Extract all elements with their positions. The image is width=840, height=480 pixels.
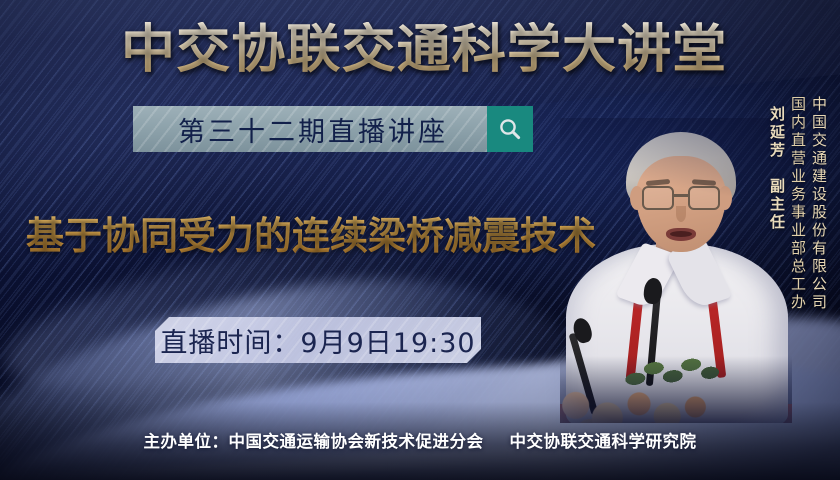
speaker-department: 国内直营业务事业部总工办 [790, 96, 805, 312]
subtitle-bar-fill: 第三十二期直播讲座 [133, 106, 487, 152]
photo-edge-fade [560, 118, 792, 423]
search-button[interactable] [487, 106, 533, 152]
footer-organizers: 主办单位：中国交通运输协会新技术促进分会中交协联交通科学研究院 [0, 428, 840, 452]
speaker-info-columns: 中国交通建设股份有限公司 国内直营业务事业部总工办 刘延芳 副主任 [769, 96, 826, 312]
live-time-text: 直播时间：9月9日19:30 [160, 321, 475, 360]
footer-org-2: 中交协联交通科学研究院 [510, 432, 697, 451]
search-icon [497, 116, 523, 142]
live-lecture-poster: 中交协联交通科学大讲堂 中交协联交通科学大讲堂 第三十二期直播讲座 基于协同受力… [0, 0, 840, 480]
footer-prefix: 主办单位： [144, 432, 229, 451]
lecture-title: 基于协同受力的连续梁桥减震技术 [26, 205, 606, 260]
speaker-name-title: 刘延芳 副主任 [769, 106, 784, 232]
subtitle-bar: 第三十二期直播讲座 [133, 106, 533, 152]
subtitle-text: 第三十二期直播讲座 [172, 110, 448, 149]
footer-org-1: 中国交通运输协会新技术促进分会 [229, 432, 484, 451]
speaker-company: 中国交通建设股份有限公司 [811, 96, 826, 312]
live-time-badge: 直播时间：9月9日19:30 [155, 317, 481, 363]
speaker-photo [560, 118, 792, 423]
main-title: 中交协联交通科学大讲堂 [0, 22, 840, 78]
